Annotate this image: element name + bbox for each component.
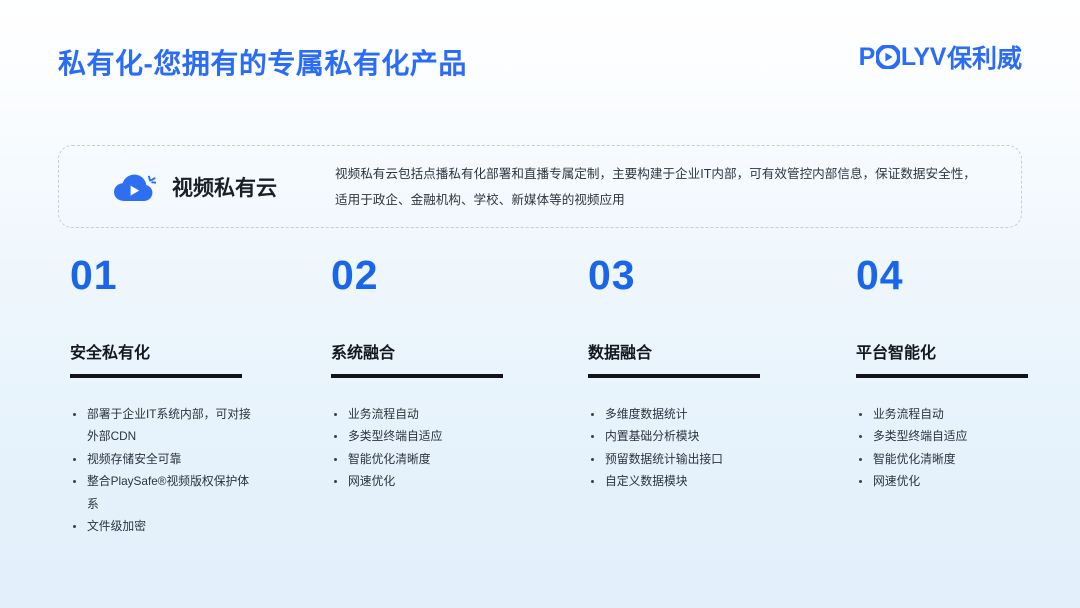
list-item: 智能优化清晰度: [856, 448, 1056, 471]
column-heading: 数据融合: [588, 339, 856, 363]
column-underline: [588, 374, 760, 378]
list-item: 网速优化: [856, 470, 1056, 493]
play-icon: [876, 45, 900, 69]
column-number: 02: [331, 255, 588, 296]
brand-chinese-name: 保利威: [947, 39, 1022, 75]
column-underline: [331, 374, 503, 378]
brand-wordmark: P LYV: [859, 45, 946, 70]
column-bullet-list: 业务流程自动 多类型终端自适应 智能优化清晰度 网速优化: [856, 403, 1056, 493]
list-item: 业务流程自动: [856, 403, 1056, 426]
column-bullet-list: 部署于企业IT系统内部，可对接外部CDN 视频存储安全可靠 整合PlaySafe…: [70, 403, 331, 538]
intro-description-line-1: 视频私有云包括点播私有化部署和直播专属定制，主要构建于企业IT内部，可有效管控内…: [335, 161, 997, 187]
slide-header: 私有化-您拥有的专属私有化产品 P LYV 保利威: [0, 0, 1080, 110]
column-number: 01: [70, 255, 331, 296]
list-item: 预留数据统计输出接口: [588, 448, 856, 471]
feature-column-2: 02 系统融合 业务流程自动 多类型终端自适应 智能优化清晰度 网速优化: [331, 255, 588, 538]
feature-columns: 01 安全私有化 部署于企业IT系统内部，可对接外部CDN 视频存储安全可靠 整…: [0, 255, 1080, 538]
brand-logo: P LYV 保利威: [859, 42, 1022, 72]
list-item: 自定义数据模块: [588, 470, 856, 493]
list-item: 多维度数据统计: [588, 403, 856, 426]
column-heading: 平台智能化: [856, 339, 1056, 363]
intro-description-line-2: 适用于政企、金融机构、学校、新媒体等的视频应用: [335, 187, 997, 213]
column-bullet-list: 多维度数据统计 内置基础分析模块 预留数据统计输出接口 自定义数据模块: [588, 403, 856, 493]
list-item: 多类型终端自适应: [331, 425, 588, 448]
brand-letter-p: P: [859, 45, 875, 70]
list-item: 多类型终端自适应: [856, 425, 1056, 448]
intro-card: 视频私有云 视频私有云包括点播私有化部署和直播专属定制，主要构建于企业IT内部，…: [58, 145, 1022, 228]
feature-column-4: 04 平台智能化 业务流程自动 多类型终端自适应 智能优化清晰度 网速优化: [856, 255, 1056, 538]
page-title: 私有化-您拥有的专属私有化产品: [58, 42, 467, 82]
list-item: 视频存储安全可靠: [70, 448, 260, 471]
intro-title: 视频私有云: [172, 172, 277, 202]
column-heading: 系统融合: [331, 339, 588, 363]
intro-description: 视频私有云包括点播私有化部署和直播专属定制，主要构建于企业IT内部，可有效管控内…: [335, 161, 1021, 213]
cloud-video-icon: [112, 167, 156, 207]
column-underline: [70, 374, 242, 378]
list-item: 智能优化清晰度: [331, 448, 588, 471]
feature-column-1: 01 安全私有化 部署于企业IT系统内部，可对接外部CDN 视频存储安全可靠 整…: [70, 255, 331, 538]
brand-letters-lyv: LYV: [901, 45, 946, 70]
intro-card-left: 视频私有云: [59, 167, 335, 207]
feature-column-3: 03 数据融合 多维度数据统计 内置基础分析模块 预留数据统计输出接口 自定义数…: [588, 255, 856, 538]
list-item: 业务流程自动: [331, 403, 588, 426]
column-bullet-list: 业务流程自动 多类型终端自适应 智能优化清晰度 网速优化: [331, 403, 588, 493]
list-item: 网速优化: [331, 470, 588, 493]
column-heading: 安全私有化: [70, 339, 331, 363]
column-underline: [856, 374, 1028, 378]
list-item: 文件级加密: [70, 515, 260, 538]
list-item: 内置基础分析模块: [588, 425, 856, 448]
column-number: 04: [856, 255, 1056, 296]
column-number: 03: [588, 255, 856, 296]
list-item: 整合PlaySafe®视频版权保护体系: [70, 470, 260, 515]
list-item: 部署于企业IT系统内部，可对接外部CDN: [70, 403, 260, 448]
